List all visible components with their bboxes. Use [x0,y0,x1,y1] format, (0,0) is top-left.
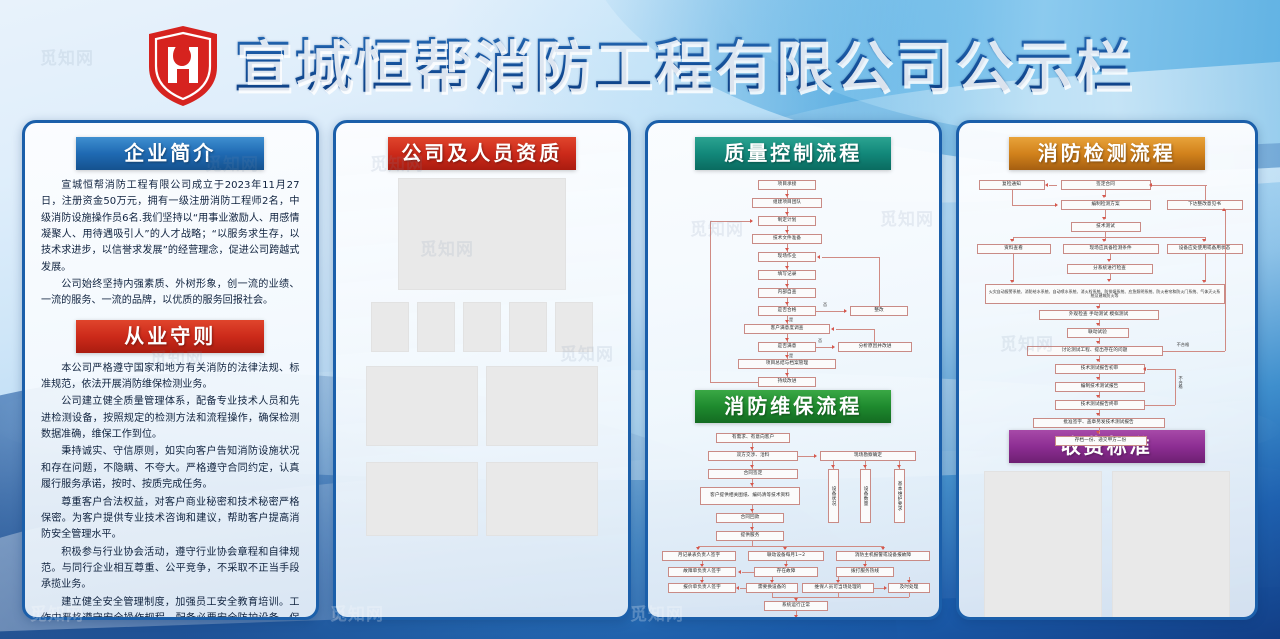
flow-arrow [770,580,774,583]
section-title-code-of-practice: 从业守则 [76,320,264,353]
code-paragraph: 公司建立健全质量管理体系，配备专业技术人员和先进检测设备，按照规定的检测方法和流… [41,394,300,443]
flow-arrow [750,483,754,486]
flow-connector [1225,210,1226,351]
flow-node: 分析原因并改进 [838,342,912,352]
intro-paragraph: 公司始终坚持内强素质、外树形象，创一流的业绩、一流的服务、一流的品牌，以优质的服… [41,277,300,310]
flow-arrow [794,615,798,618]
flow-arrow [1202,280,1206,283]
flow-node: 客户反馈 [840,619,904,620]
flow-node: 设备应处使用或备用状态 [1167,244,1243,254]
code-of-practice-text: 本公司严格遵守国家和地方有关消防的法律法规、标准规范，依法开展消防维保检测业务。… [37,361,304,620]
flow-node: 联动设备每月1~2 [748,551,824,561]
flow-node-decision: 是否合格 [758,306,816,316]
flow-arrow [1096,306,1100,309]
flow-label-yes: 是 [789,353,793,359]
flow-arrow [784,564,788,567]
flow-node: 现场作业 [758,252,816,262]
panels-row: 企业简介 宣城恒帮消防工程有限公司成立于2023年11月27日，注册资金50万元… [22,120,1258,620]
shield-fire-logo-icon [146,25,220,107]
section-title-qualifications: 公司及人员资质 [388,137,576,170]
flowchart-maintenance: 有需求、有意向客户 双方交涉、洽料 现场勘察确定 合同签定 设备状况 设备数量 … [660,431,932,616]
flow-label-no: 否 [823,302,827,308]
flow-node: 内部自查 [758,288,816,298]
flow-arrow [785,230,789,233]
flow-node: 消防主机报警或设备报故障 [836,551,930,561]
flow-arrow [1107,259,1111,262]
flow-arrow [785,338,789,341]
flow-node: 签定合同 [1061,180,1151,190]
flow-arrow [897,465,901,468]
flow-arrow [1096,413,1100,416]
flow-node: 存档一份、递交甲方二份 [1055,436,1147,446]
flow-connector [874,329,875,342]
flow-node: 客户满意度调查 [744,324,830,334]
flow-node: 资料查看 [977,244,1051,254]
flow-arrow [1096,341,1100,344]
flow-label-fail: 不合格 [1178,376,1184,389]
flow-node: 联动试验 [1067,328,1129,338]
flow-arrow [1222,208,1226,211]
section-title-company-intro: 企业简介 [76,137,264,170]
flow-node-systems-list: 火灾自动报警系统、消防给水系统、自动喷水系统、消火栓系统、防排烟系统、应急照明系… [985,284,1225,304]
flow-node: 提供服务 [716,531,784,541]
photo-placeholder-person-cert [417,302,455,352]
panel-company-intro: 企业简介 宣城恒帮消防工程有限公司成立于2023年11月27日，注册资金50万元… [22,120,319,620]
poster-header: 宣城恒帮消防工程有限公司公示栏 [0,18,1280,114]
flow-connector [740,588,746,589]
flow-node: 设备数量 [860,469,871,523]
flow-node: 填写记录 [758,270,816,280]
flow-node: 存在故障 [754,567,818,577]
flow-arrow [884,586,887,590]
flow-connector [742,572,754,573]
company-intro-text: 宣城恒帮消防工程有限公司成立于2023年11月27日，注册资金50万元，拥有一级… [37,178,304,310]
fee-table-row [971,471,1243,620]
flow-node: 批准签字、盖章另发技术测试报告 [1033,418,1165,428]
section-title-maintenance: 消防维保流程 [695,390,891,423]
flow-arrow [1096,359,1100,362]
flow-arrow [700,564,704,567]
flow-connector [816,347,832,348]
photo-placeholder-fee-table [984,471,1102,620]
flow-arrow [785,266,789,269]
flowchart-detection: 复检通知 签定合同 下达整改意见书 编制检测方案 技术测试 资料查看 现场应具备… [971,178,1249,414]
flow-arrow [881,547,885,550]
flow-arrow [831,465,835,468]
flow-connector [1013,237,1205,238]
flow-node: 系统运行正常 [764,601,828,611]
flow-node: 及时处理 [888,583,930,593]
flow-node: 电话回访 [768,619,828,620]
flow-node: 现场勘察确定 [820,451,916,461]
flow-arrow [785,373,789,376]
photo-placeholder-license [366,462,478,536]
flow-arrow [750,527,754,530]
photo-placeholder-person-cert [555,302,593,352]
section-title-quality-control: 质量控制流程 [695,137,891,170]
photo-placeholder-certificate-main [398,178,566,290]
flow-node: 设备状况 [828,469,839,523]
flow-arrow [785,284,789,287]
section-title-fee-standard: 收费标准 [1009,430,1205,463]
flow-node: 拨打服务热线 [836,567,894,577]
flow-arrow [785,194,789,197]
license-row-top [348,366,617,446]
flow-node: 讨论测试工程、提出存在的问题 [1027,346,1163,356]
flow-arrow [1102,217,1106,220]
flow-arrow [1143,367,1146,371]
flow-arrow [696,547,700,550]
license-row-bottom [348,462,617,536]
flow-connector [710,221,711,382]
flow-node: 制定计划 [758,216,816,226]
flow-arrow [785,248,789,251]
panel-process-flows: 质量控制流程 项目承接 组建项目团队 制定计划 技术文件准备 现场作业 填写记录… [645,120,942,620]
intro-paragraph: 宣城恒帮消防工程有限公司成立于2023年11月27日，注册资金50万元，拥有一级… [41,178,300,276]
flow-arrow [738,570,741,574]
flow-node: 客户提供相关图纸、编码清等技术资料 [700,487,800,505]
flow-arrow [700,580,704,583]
flow-arrow [750,447,754,450]
flow-node: 维保人员可当场处理的 [802,583,874,593]
flow-node: 需要换设备的 [746,583,798,593]
flow-node: 技术测试 [1071,222,1141,232]
flowchart-quality-control: 项目承接 组建项目团队 制定计划 技术文件准备 现场作业 填写记录 内部自查 是… [660,178,932,378]
flow-arrow [844,309,847,313]
flow-node: 组建项目团队 [752,198,822,208]
flow-arrow [1102,239,1106,242]
flow-connector [698,546,884,547]
flow-arrow [836,580,840,583]
flow-connector [1205,185,1206,200]
flow-node: 维保人员反馈 [696,619,760,620]
flow-connector [798,456,814,457]
flow-node: 双方交涉、洽料 [708,451,798,461]
photo-placeholder-fee-table [1112,471,1230,620]
flow-label-no: 否 [818,338,822,344]
flow-arrow [794,598,798,601]
flow-arrow [814,454,817,458]
flow-node: 合同签定 [708,469,798,479]
flow-node: 报价单负责人签字 [668,583,736,593]
flow-arrow [750,219,753,223]
code-paragraph: 尊重客户合法权益，对客户商业秘密和技术秘密严格保密。为客户提供专业技术咨询和建议… [41,495,300,544]
flow-arrow [863,564,867,567]
flow-arrow [1045,183,1048,187]
code-paragraph: 建立健全安全管理制度，加强员工安全教育培训。工作中严格遵守安全操作规程，配备必要… [41,595,300,620]
section-title-detection: 消防检测流程 [1009,137,1205,170]
flow-arrow [785,320,789,323]
flow-connector [1163,351,1225,352]
flow-connector [874,588,884,589]
flow-connector [836,329,874,330]
flow-connector [1205,254,1206,282]
flow-connector [909,593,910,597]
flow-node: 现场应具备检测条件 [1063,244,1159,254]
flow-arrow [817,255,820,259]
photo-placeholder-person-cert [509,302,547,352]
flow-node: 技术测试报告终审 [1055,400,1145,410]
flow-node: 有需求、有意向客户 [716,433,790,443]
flow-arrow [1010,280,1014,283]
panel-qualifications: 公司及人员资质 [333,120,632,620]
person-cert-row [348,302,617,352]
page-title: 宣城恒帮消防工程有限公司公示栏 [234,37,1134,95]
flow-label-yes: 是 [789,317,793,323]
flow-arrow [1096,431,1100,434]
photo-placeholder-license [486,462,598,536]
flow-connector [879,257,880,306]
code-paragraph: 本公司严格遵守国家和地方有关消防的法律法规、标准规范，依法开展消防维保检测业务。 [41,361,300,394]
flow-arrow [783,547,787,550]
flow-connector [1049,185,1057,186]
flow-arrow [750,465,754,468]
flow-node: 复检通知 [979,180,1045,190]
flow-connector [710,221,752,222]
flow-node: 合同回款 [716,513,784,523]
flow-connector [1012,205,1055,206]
flow-connector [1145,405,1175,406]
flow-connector [710,382,758,383]
flow-arrow [1149,183,1152,187]
poster-board: 宣城恒帮消防工程有限公司公示栏 企业简介 宣城恒帮消防工程有限公司成立于2023… [0,0,1280,639]
flow-node: 下达整改意见书 [1167,200,1243,210]
code-paragraph: 秉持诚实、守信原则，如实向客户告知消防设施状况和存在问题，不隐瞒、不夸大。严格遵… [41,444,300,493]
code-paragraph: 积极参与行业协会活动，遵守行业协会章程和自律规范。与同行企业相互尊重、公平竞争，… [41,545,300,594]
flow-node: 月记录表负责人签字 [662,551,736,561]
flow-arrow [785,302,789,305]
flow-arrow [1096,323,1100,326]
flow-arrow [1102,195,1106,198]
flow-arrow [1096,377,1100,380]
flow-node-decision: 是否满意 [758,342,816,352]
photo-placeholder-person-cert [371,302,409,352]
flow-node: 技术测试报告初审 [1055,364,1145,374]
flow-arrow [750,509,754,512]
flow-arrow [831,327,834,331]
flow-arrow [1107,279,1111,282]
flow-connector [1147,369,1175,370]
flow-connector [822,257,879,258]
flow-connector [1013,254,1014,282]
flow-node: 故障单负责人签字 [668,567,736,577]
flow-arrow [907,580,911,583]
flow-arrow [832,345,835,349]
flow-node: 项目总结与档案管理 [738,359,836,369]
flow-node: 项目承接 [758,180,816,190]
flow-node: 技术文件准备 [752,234,822,244]
flow-node: 分系统进行检查 [1067,264,1153,274]
flow-node: 外观检查 手动测试 模拟测试 [1039,310,1159,320]
photo-placeholder-license [486,366,598,446]
flow-arrow [1055,203,1058,207]
flow-arrow [1202,239,1206,242]
flow-node: 编制检测方案 [1061,200,1151,210]
panel-detection-and-fees: 消防检测流程 复检通知 签定合同 下达整改意见书 编制检测方案 技术测试 资料查… [956,120,1258,620]
flow-arrow [1010,239,1014,242]
flow-connector [816,311,846,312]
photo-placeholder-license [366,366,478,446]
flow-node: 基本维护要求 [894,469,905,523]
flow-arrow [736,586,739,590]
flow-arrow [863,465,867,468]
flow-node: 持续改进 [758,377,816,387]
flow-label-fail: 不合格 [1177,342,1190,348]
flow-arrow [1096,395,1100,398]
photo-placeholder-person-cert [463,302,501,352]
flow-connector [1012,190,1013,205]
flow-node: 编制技术测试报告 [1055,382,1145,392]
flow-node: 整改 [850,306,908,316]
flow-connector [1175,369,1176,405]
flow-arrow [785,212,789,215]
flow-connector [1151,185,1207,186]
flow-arrow [785,355,789,358]
